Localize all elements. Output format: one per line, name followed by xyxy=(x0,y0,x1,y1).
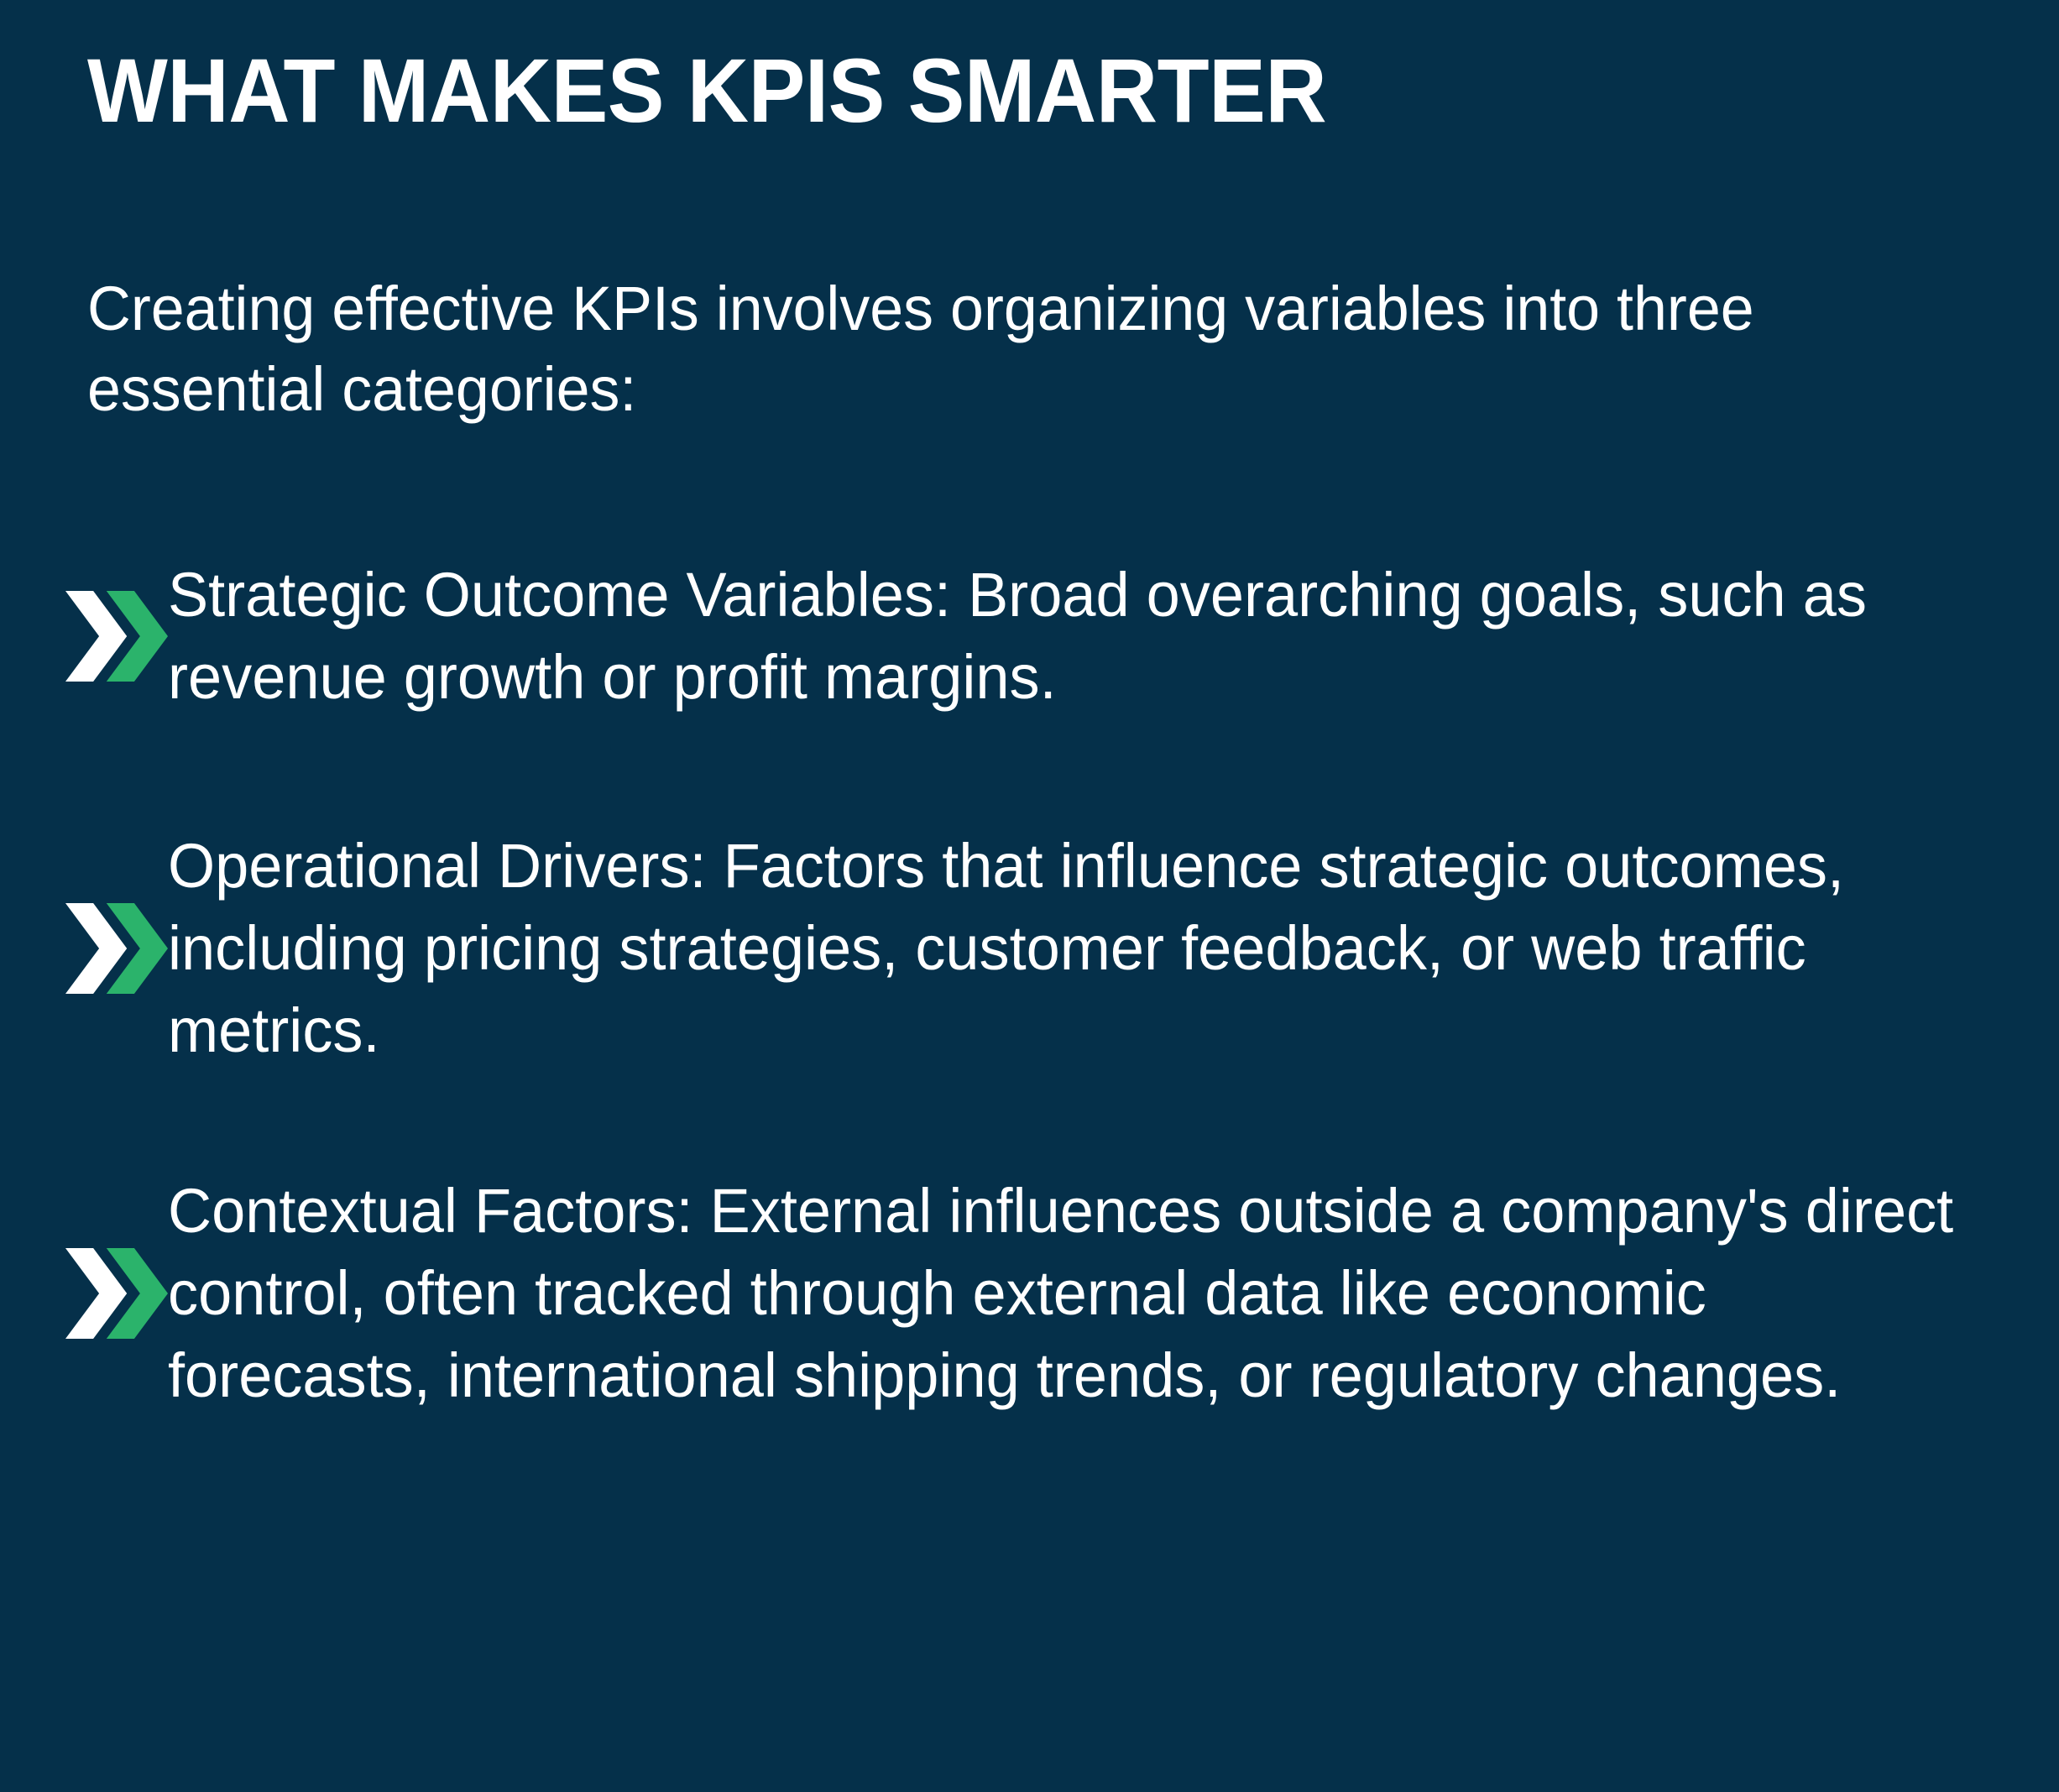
page-title: WHAT MAKES KPIS SMARTER xyxy=(87,40,1863,142)
double-chevron-right-icon xyxy=(0,584,168,688)
intro-paragraph: Creating effective KPIs involves organiz… xyxy=(87,269,1952,430)
list-item: Contextual Factors: External influences … xyxy=(0,1170,2059,1416)
list-item-label: Strategic Outcome Variables: Broad overa… xyxy=(168,554,2012,718)
list-item: Operational Drivers: Factors that influe… xyxy=(0,825,2059,1071)
slide-root: WHAT MAKES KPIS SMARTER Creating effecti… xyxy=(0,0,2059,1792)
list-item: Strategic Outcome Variables: Broad overa… xyxy=(0,554,2059,718)
list-item-label: Operational Drivers: Factors that influe… xyxy=(168,825,2012,1071)
bullet-list: Strategic Outcome Variables: Broad overa… xyxy=(0,554,2059,1416)
double-chevron-right-icon xyxy=(0,1241,168,1345)
double-chevron-right-icon xyxy=(0,896,168,1000)
list-item-label: Contextual Factors: External influences … xyxy=(168,1170,2012,1416)
